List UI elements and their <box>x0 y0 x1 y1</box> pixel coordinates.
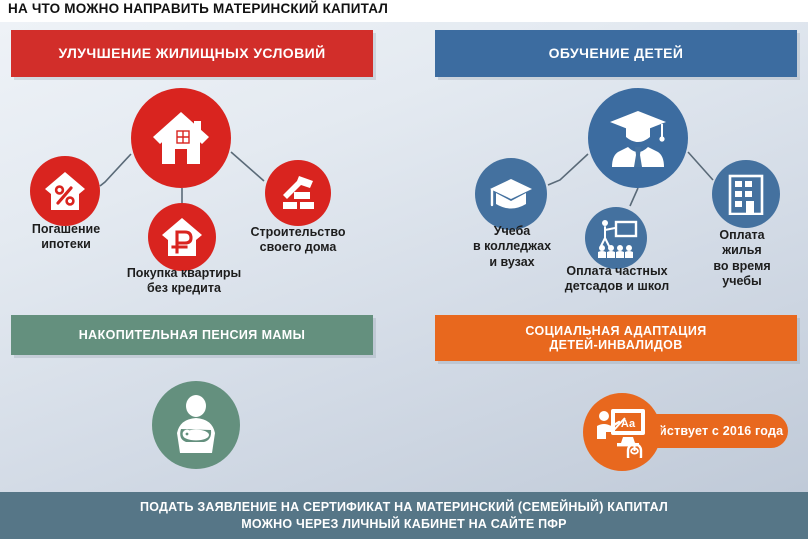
caption-housing-payment-line2: жилья <box>690 243 794 258</box>
caption-construction-line2: своего дома <box>232 240 364 255</box>
graduate-icon[interactable] <box>588 88 688 188</box>
section-header-social[interactable]: СОЦИАЛЬНАЯ АДАПТАЦИЯ ДЕТЕЙ-ИНВАЛИДОВ <box>435 315 797 361</box>
section-header-social-line2: ДЕТЕЙ-ИНВАЛИДОВ <box>525 338 706 352</box>
graduation-cap-icon[interactable] <box>475 158 547 230</box>
section-header-pension[interactable]: НАКОПИТЕЛЬНАЯ ПЕНСИЯ МАМЫ <box>11 315 373 355</box>
caption-construction: Строительство своего дома <box>232 225 364 256</box>
section-header-housing[interactable]: УЛУЧШЕНИЕ ЖИЛИЩНЫХ УСЛОВИЙ <box>11 30 373 77</box>
caption-study: Учеба в колледжах и вузах <box>444 224 580 270</box>
house-icon[interactable] <box>131 88 231 188</box>
caption-housing-payment-line4: учебы <box>690 274 794 289</box>
caption-kindergarten-line2: детсадов и школ <box>542 279 692 294</box>
caption-mortgage-line1: Погашение <box>0 222 132 237</box>
caption-mortgage: Погашение ипотеки <box>0 222 132 253</box>
caption-housing-payment-line3: во время <box>690 259 794 274</box>
caption-kindergarten-line1: Оплата частных <box>542 264 692 279</box>
page-title: НА ЧТО МОЖНО НАПРАВИТЬ МАТЕРИНСКИЙ КАПИТ… <box>8 1 388 16</box>
caption-study-line1: Учеба <box>444 224 580 239</box>
caption-construction-line1: Строительство <box>232 225 364 240</box>
house-percent-icon[interactable] <box>30 156 100 226</box>
house-ruble-icon[interactable] <box>148 203 216 271</box>
computer-learning-icon[interactable]: Аа <box>583 393 661 471</box>
footer-banner: ПОДАТЬ ЗАЯВЛЕНИЕ НА СЕРТИФИКАТ НА МАТЕРИ… <box>0 492 808 539</box>
hammer-bricks-icon[interactable] <box>265 160 331 226</box>
apartment-building-icon[interactable] <box>712 160 780 228</box>
caption-housing-payment: Оплата жилья во время учебы <box>690 228 794 289</box>
caption-purchase-line2: без кредита <box>104 281 264 296</box>
footer-line2: МОЖНО ЧЕРЕЗ ЛИЧНЫЙ КАБИНЕТ НА САЙТЕ ПФР <box>241 516 566 533</box>
classroom-icon[interactable] <box>585 207 647 269</box>
status-badge-2016: действует с 2016 года <box>639 414 788 448</box>
caption-kindergarten: Оплата частных детсадов и школ <box>542 264 692 295</box>
caption-study-line2: в колледжах <box>444 239 580 254</box>
caption-housing-payment-line1: Оплата <box>690 228 794 243</box>
caption-purchase-line1: Покупка квартиры <box>104 266 264 281</box>
caption-purchase: Покупка квартиры без кредита <box>104 266 264 297</box>
infographic-page: НА ЧТО МОЖНО НАПРАВИТЬ МАТЕРИНСКИЙ КАПИТ… <box>0 0 808 539</box>
section-header-social-line1: СОЦИАЛЬНАЯ АДАПТАЦИЯ <box>525 324 706 338</box>
footer-line1: ПОДАТЬ ЗАЯВЛЕНИЕ НА СЕРТИФИКАТ НА МАТЕРИ… <box>140 499 668 516</box>
caption-mortgage-line2: ипотеки <box>0 237 132 252</box>
mother-with-baby-icon[interactable] <box>152 381 240 469</box>
section-header-education[interactable]: ОБУЧЕНИЕ ДЕТЕЙ <box>435 30 797 77</box>
